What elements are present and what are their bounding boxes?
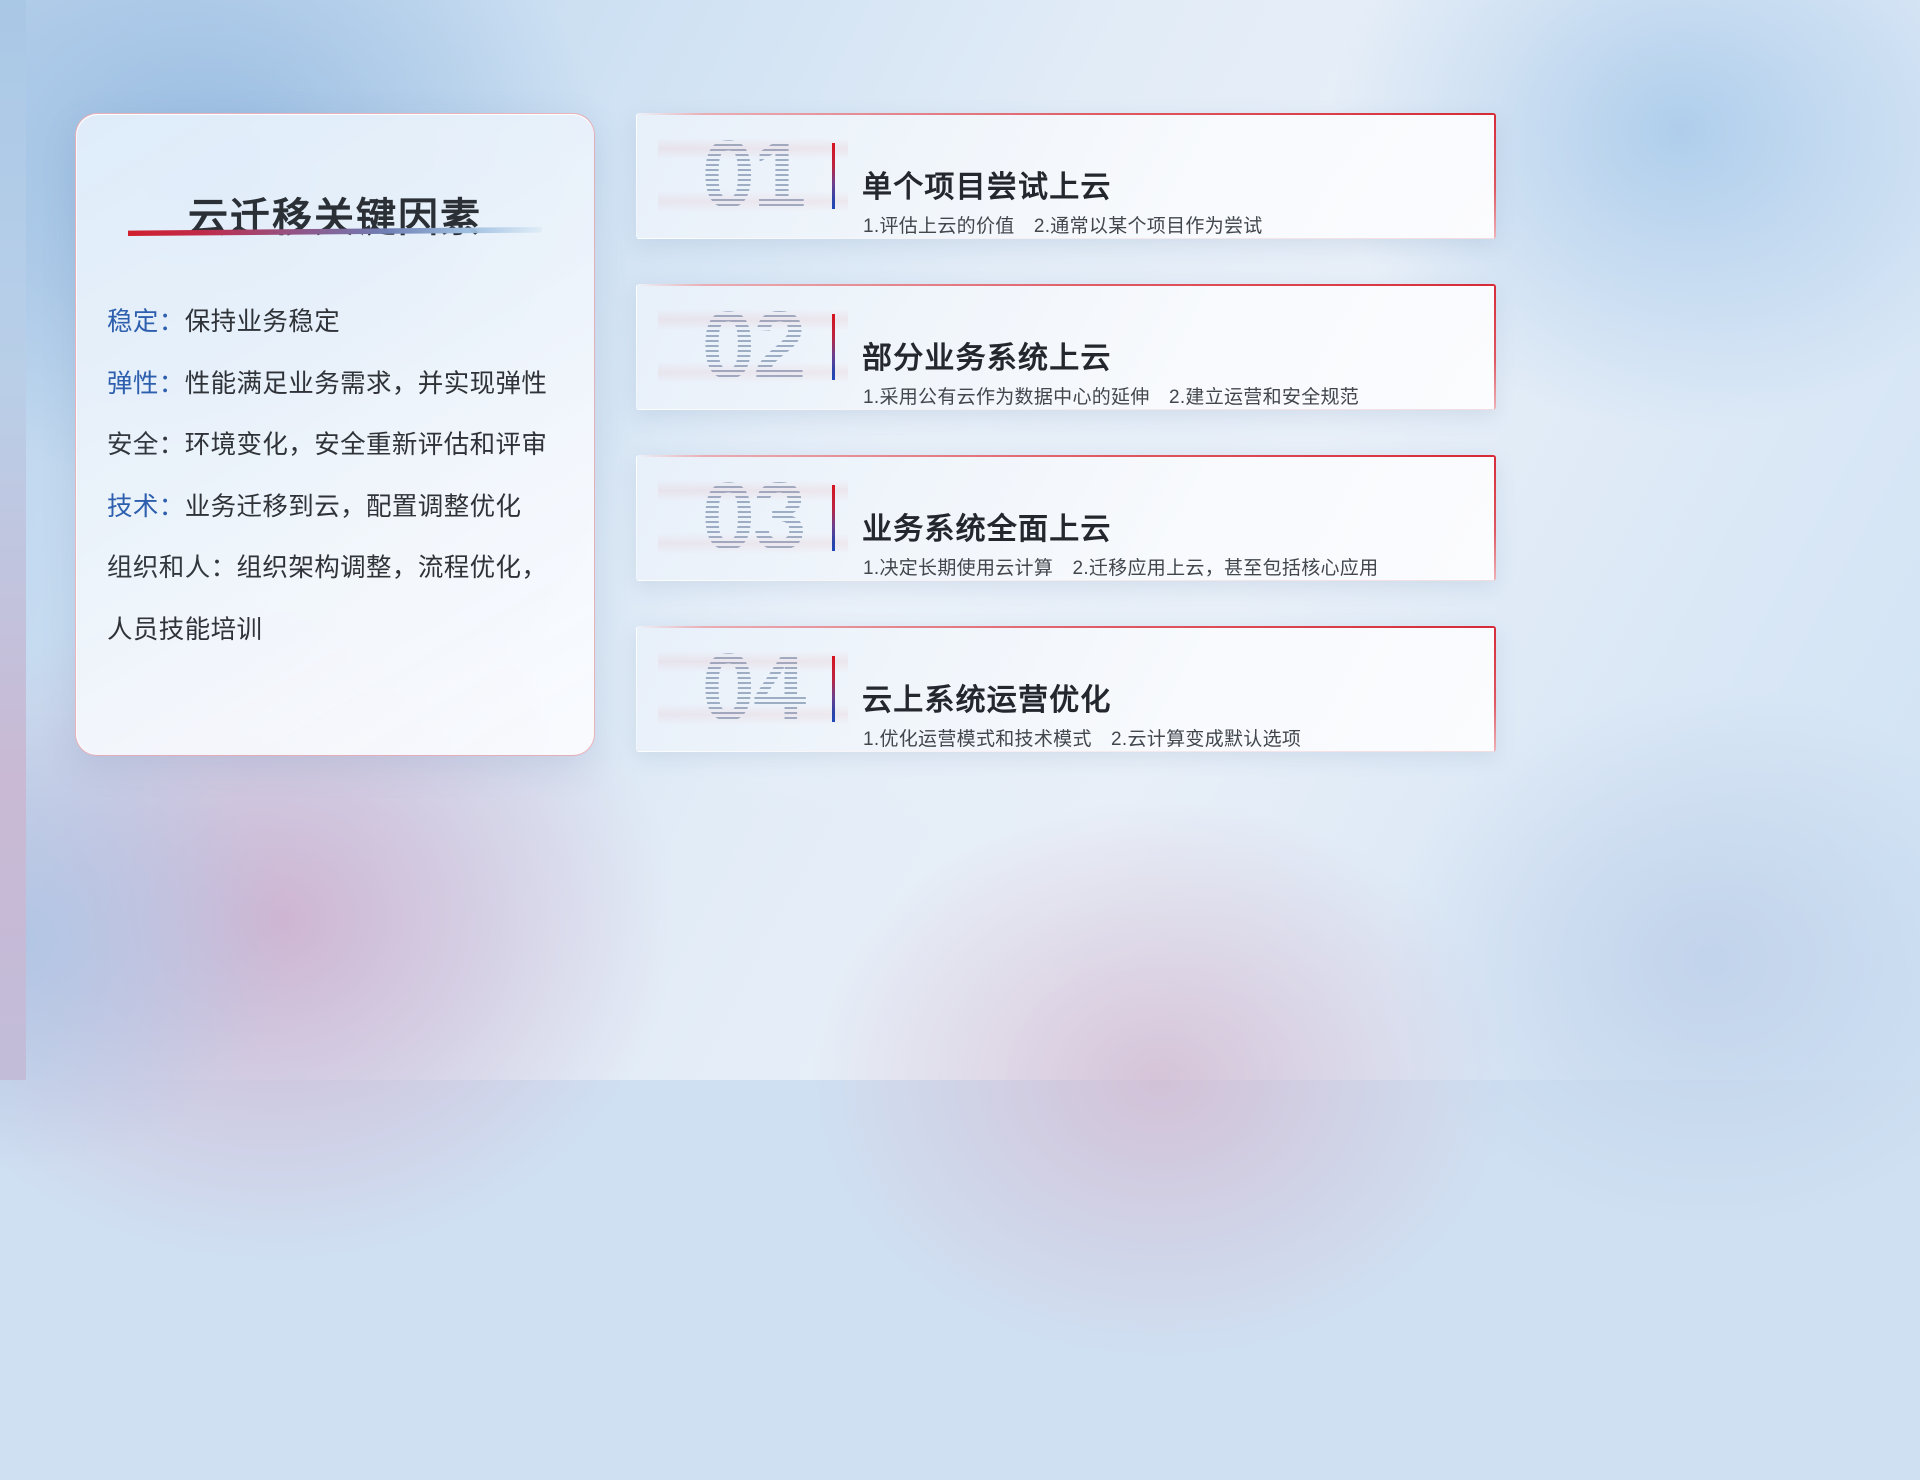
list-item-text: 人员技能培训 [107, 616, 262, 644]
list-item: 技术：业务迁移到云，配置调整优化 [107, 495, 570, 521]
stage-description: 1.采用公有云作为数据中心的延伸 2.建立运营和安全规范 [863, 382, 1359, 409]
stage-title: 部分业务系统上云 [862, 333, 1112, 377]
stage-title: 云上系统运营优化 [862, 675, 1112, 719]
stage-title: 单个项目尝试上云 [862, 162, 1112, 206]
list-item-text: 业务迁移到云，配置调整优化 [185, 493, 522, 521]
card-right-accent-border [1494, 455, 1496, 581]
stage-card[interactable]: 03 业务系统全面上云 1.决定长期使用云计算 2.迁移应用上云，甚至包括核心应… [636, 455, 1496, 581]
background-left-edge-strip [0, 0, 26, 1080]
list-item-text: 组织架构调整，流程优化， [237, 554, 548, 582]
card-right-accent-border [1494, 284, 1496, 410]
stage-number-tint [658, 626, 848, 752]
stage-number-watermark: 01 [658, 113, 848, 239]
key-factors-list: 稳定：保持业务稳定 弹性：性能满足业务需求，并实现弹性 安全：环境变化，安全重新… [107, 310, 570, 643]
list-item: 稳定：保持业务稳定 [107, 310, 570, 336]
card-left-highlight [636, 455, 637, 581]
list-item: 组织和人：组织架构调整，流程优化， [107, 556, 570, 582]
list-item-text: 保持业务稳定 [185, 308, 340, 336]
stage-description: 1.评估上云的价值 2.通常以某个项目作为尝试 [863, 211, 1263, 238]
list-item-text: 环境变化，安全重新评估和评审 [185, 431, 548, 459]
stage-number-watermark: 03 [658, 455, 848, 581]
list-item-key: 组织和人： [107, 554, 237, 582]
stage-description: 1.优化运营模式和技术模式 2.云计算变成默认选项 [863, 724, 1301, 751]
stage-number-tint [658, 284, 848, 410]
card-left-highlight [636, 113, 637, 239]
stage-accent-bar [832, 314, 835, 380]
stage-card-list: 01 单个项目尝试上云 1.评估上云的价值 2.通常以某个项目作为尝试 02 部… [636, 113, 1496, 752]
stage-accent-bar [832, 143, 835, 209]
stage-number-watermark: 02 [658, 284, 848, 410]
stage-card[interactable]: 02 部分业务系统上云 1.采用公有云作为数据中心的延伸 2.建立运营和安全规范 [636, 284, 1496, 410]
stage-number-tint [658, 455, 848, 581]
stage-accent-bar [832, 485, 835, 551]
list-item-key: 弹性： [107, 370, 185, 398]
stage-number-tint [658, 113, 848, 239]
card-right-accent-border [1494, 626, 1496, 752]
stage-title: 业务系统全面上云 [862, 504, 1112, 548]
list-item-key: 安全： [107, 431, 185, 459]
card-left-highlight [636, 626, 637, 752]
card-right-accent-border [1494, 113, 1496, 239]
stage-card[interactable]: 01 单个项目尝试上云 1.评估上云的价值 2.通常以某个项目作为尝试 [636, 113, 1496, 239]
stage-card[interactable]: 04 云上系统运营优化 1.优化运营模式和技术模式 2.云计算变成默认选项 [636, 626, 1496, 752]
list-item-text: 性能满足业务需求，并实现弹性 [185, 370, 548, 398]
list-item: 人员技能培训 [107, 618, 570, 644]
list-item-key: 稳定： [107, 308, 185, 336]
stage-accent-bar [832, 656, 835, 722]
stage-number-watermark: 04 [658, 626, 848, 752]
key-factors-panel: 云迁移关键因素 稳定：保持业务稳定 弹性：性能满足业务需求，并实现弹性 安全：环… [75, 113, 595, 756]
list-item: 安全：环境变化，安全重新评估和评审 [107, 433, 570, 459]
list-item: 弹性：性能满足业务需求，并实现弹性 [107, 372, 570, 398]
list-item-key: 技术： [107, 493, 185, 521]
stage-description: 1.决定长期使用云计算 2.迁移应用上云，甚至包括核心应用 [863, 553, 1378, 580]
card-left-highlight [636, 284, 637, 410]
